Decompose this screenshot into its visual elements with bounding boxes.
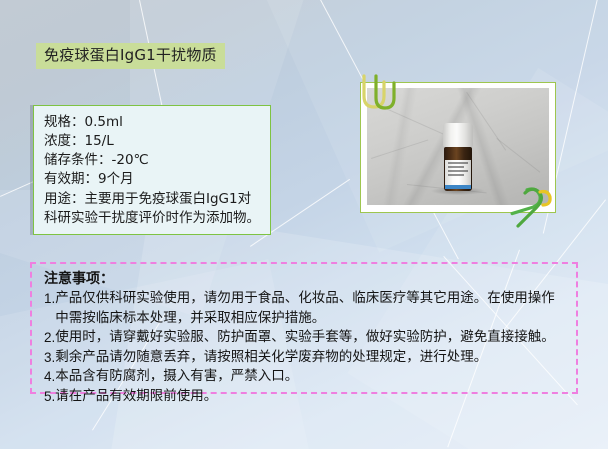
specification-box: 规格：0.5ml 浓度：15/L 储存条件：-20℃ 有效期：9个月 用途：主要… bbox=[33, 105, 271, 235]
notes-list: 1. 产品仅供科研实验使用，请勿用于食品、化妆品、临床医疗等其它用途。在使用操作… bbox=[44, 289, 568, 406]
notes-box: 注意事项： 1. 产品仅供科研实验使用，请勿用于食品、化妆品、临床医疗等其它用途… bbox=[30, 262, 578, 394]
vial-label-stripe bbox=[445, 185, 471, 189]
page-title: 免疫球蛋白IgG1干扰物质 bbox=[36, 43, 225, 69]
note-number: 4. bbox=[44, 367, 55, 387]
marble-vein bbox=[496, 138, 540, 173]
note-item: 4. 本品含有防腐剂，摄入有害，严禁入口。 bbox=[44, 367, 568, 387]
note-number: 3. bbox=[44, 348, 55, 368]
marble-vein bbox=[371, 139, 428, 158]
note-text: 本品含有防腐剂，摄入有害，严禁入口。 bbox=[55, 367, 568, 387]
vial-label-line bbox=[448, 162, 468, 164]
note-number: 2. bbox=[44, 328, 55, 348]
note-text: 请在产品有效期限前使用。 bbox=[55, 387, 568, 407]
note-item: 5. 请在产品有效期限前使用。 bbox=[44, 387, 568, 407]
note-item: 2. 使用时，请穿戴好实验服、防护面罩、实验手套等，做好实验防护，避免直接接触。 bbox=[44, 328, 568, 348]
spec-row-size: 规格：0.5ml bbox=[44, 113, 262, 132]
spec-row-storage: 储存条件：-20℃ bbox=[44, 151, 262, 170]
vial-label-line bbox=[448, 170, 468, 172]
spec-row-shelf-life: 有效期：9个月 bbox=[44, 170, 262, 189]
note-number: 5. bbox=[44, 387, 55, 407]
vial-cap bbox=[443, 123, 473, 147]
product-vial-photo bbox=[367, 88, 549, 205]
vial-label-line bbox=[448, 174, 464, 176]
reagent-vial bbox=[443, 123, 473, 191]
note-item: 1. 产品仅供科研实验使用，请勿用于食品、化妆品、临床医疗等其它用途。在使用操作… bbox=[44, 289, 568, 328]
spec-row-usage: 用途：主要用于免疫球蛋白IgG1对科研实验干扰度评价时作为添加物。 bbox=[44, 190, 262, 228]
slide-canvas: 免疫球蛋白IgG1干扰物质 规格：0.5ml 浓度：15/L 储存条件：-20℃… bbox=[0, 0, 608, 449]
vial-body bbox=[444, 147, 472, 191]
note-text: 剩余产品请勿随意丢弃，请按照相关化学废弃物的处理规定，进行处理。 bbox=[55, 348, 568, 368]
product-photo-frame bbox=[360, 82, 556, 213]
note-item: 3. 剩余产品请勿随意丢弃，请按照相关化学废弃物的处理规定，进行处理。 bbox=[44, 348, 568, 368]
notes-heading: 注意事项： bbox=[44, 270, 568, 288]
note-number: 1. bbox=[44, 289, 55, 309]
note-text: 使用时，请穿戴好实验服、防护面罩、实验手套等，做好实验防护，避免直接接触。 bbox=[55, 328, 568, 348]
vial-label-line bbox=[448, 166, 464, 168]
note-text: 产品仅供科研实验使用，请勿用于食品、化妆品、临床医疗等其它用途。在使用操作中需按… bbox=[55, 289, 568, 328]
vial-label bbox=[445, 160, 471, 186]
spec-row-concentration: 浓度：15/L bbox=[44, 132, 262, 151]
